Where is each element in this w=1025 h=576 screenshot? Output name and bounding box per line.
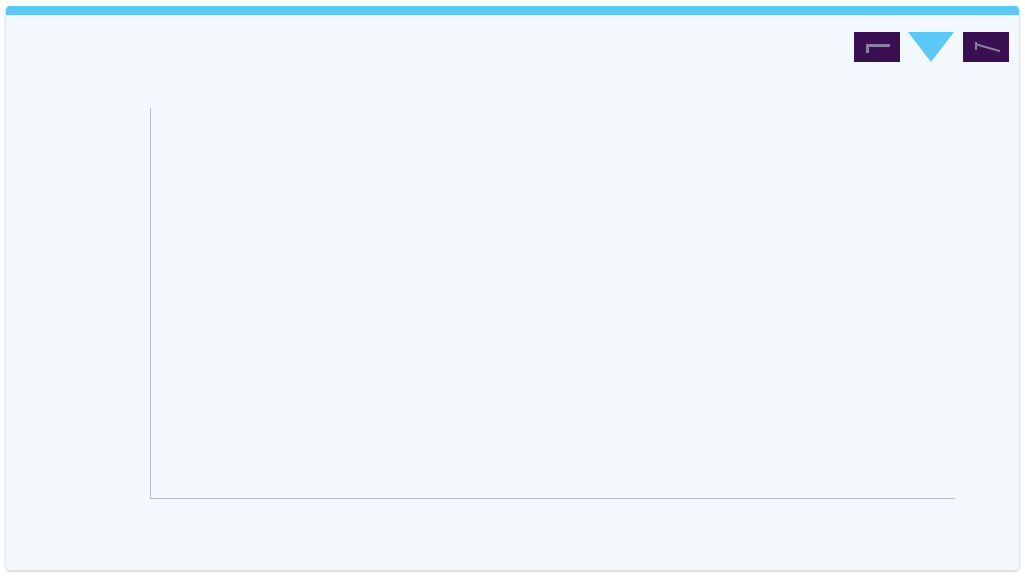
y-axis-line [150, 108, 151, 498]
chart-plot-area [6, 6, 1019, 570]
chart-card [6, 6, 1019, 570]
x-axis-line [150, 498, 955, 499]
chart-page [0, 0, 1025, 576]
